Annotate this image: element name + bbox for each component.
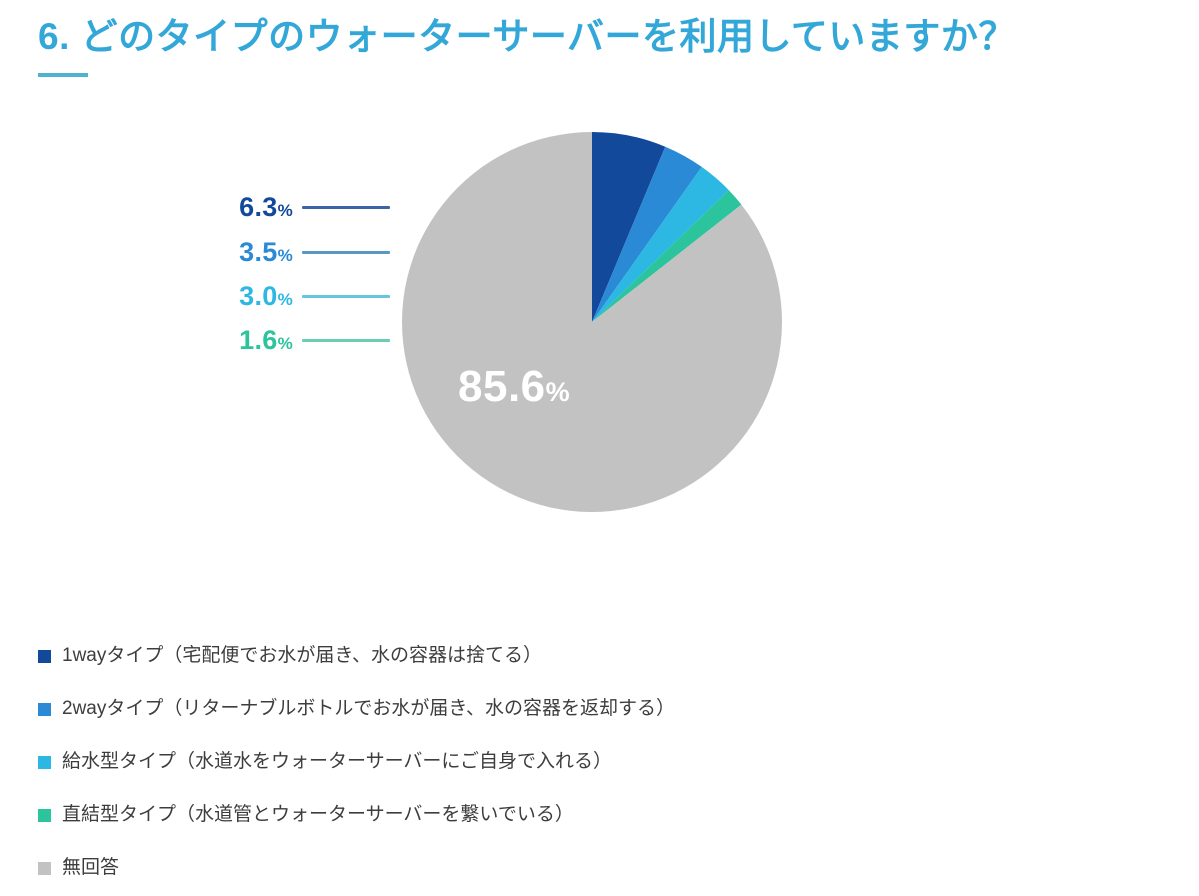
pie-main-value-label: 85.6% [458,362,570,412]
pie-slice-group [402,132,782,512]
legend-label-1way: 1wayタイプ（宅配便でお水が届き、水の容器は捨てる） [62,645,542,668]
legend-swatch-kyusui [38,756,51,769]
callout-number-chokketsu: 1.6 [239,325,277,355]
pie-main-value-percent-sign: % [546,377,570,407]
page-title: 6. どのタイプのウォーターサーバーを利用していますか？ [38,14,1158,59]
legend-item-chokketsu: 直結型タイプ（水道管とウォーターサーバーを繋いでいる） [38,789,1138,842]
callout-percent-sign-kyusui: % [278,290,293,309]
pie-main-value-number: 85.6 [458,362,546,411]
legend-label-kyusui: 給水型タイプ（水道水をウォーターサーバーにご自身で入れる） [62,751,612,774]
legend-item-1way: 1wayタイプ（宅配便でお水が届き、水の容器は捨てる） [38,630,1138,683]
callout-value-1way: 6.3% [239,192,293,223]
callout-leader-line-1way [302,206,390,209]
pie-chart: 6.3% 3.5% 3.0% 1.6% 85.6% [0,118,1199,588]
chart-legend: 1wayタイプ（宅配便でお水が届き、水の容器は捨てる） 2wayタイプ（リターナ… [38,630,1138,895]
callout-value-kyusui: 3.0% [239,281,293,312]
callout-percent-sign-2way: % [278,246,293,265]
legend-item-mukaito: 無回答 [38,842,1138,895]
callout-row-1way: 6.3% [0,190,390,224]
legend-swatch-2way [38,703,51,716]
callout-number-kyusui: 3.0 [239,281,277,311]
callout-value-2way: 3.5% [239,237,293,268]
callout-leader-line-2way [302,251,390,254]
callout-row-2way: 3.5% [0,235,390,269]
callout-number-2way: 3.5 [239,237,277,267]
legend-swatch-mukaito [38,862,51,875]
pie-svg [400,130,784,514]
callout-leader-line-kyusui [302,295,390,298]
legend-swatch-chokketsu [38,809,51,822]
callout-number-1way: 6.3 [239,192,277,222]
callout-value-chokketsu: 1.6% [239,325,293,356]
legend-label-mukaito: 無回答 [62,857,119,880]
title-block: 6. どのタイプのウォーターサーバーを利用していますか？ [38,14,1158,77]
legend-item-2way: 2wayタイプ（リターナブルボトルでお水が届き、水の容器を返却する） [38,683,1138,736]
legend-label-2way: 2wayタイプ（リターナブルボトルでお水が届き、水の容器を返却する） [62,698,675,721]
callout-percent-sign-chokketsu: % [278,334,293,353]
callout-leader-line-chokketsu [302,339,390,342]
legend-swatch-1way [38,650,51,663]
callout-percent-sign-1way: % [278,201,293,220]
legend-label-chokketsu: 直結型タイプ（水道管とウォーターサーバーを繋いでいる） [62,804,574,827]
callout-row-kyusui: 3.0% [0,279,390,313]
callout-row-chokketsu: 1.6% [0,323,390,357]
legend-item-kyusui: 給水型タイプ（水道水をウォーターサーバーにご自身で入れる） [38,736,1138,789]
title-accent-rule [38,73,88,77]
